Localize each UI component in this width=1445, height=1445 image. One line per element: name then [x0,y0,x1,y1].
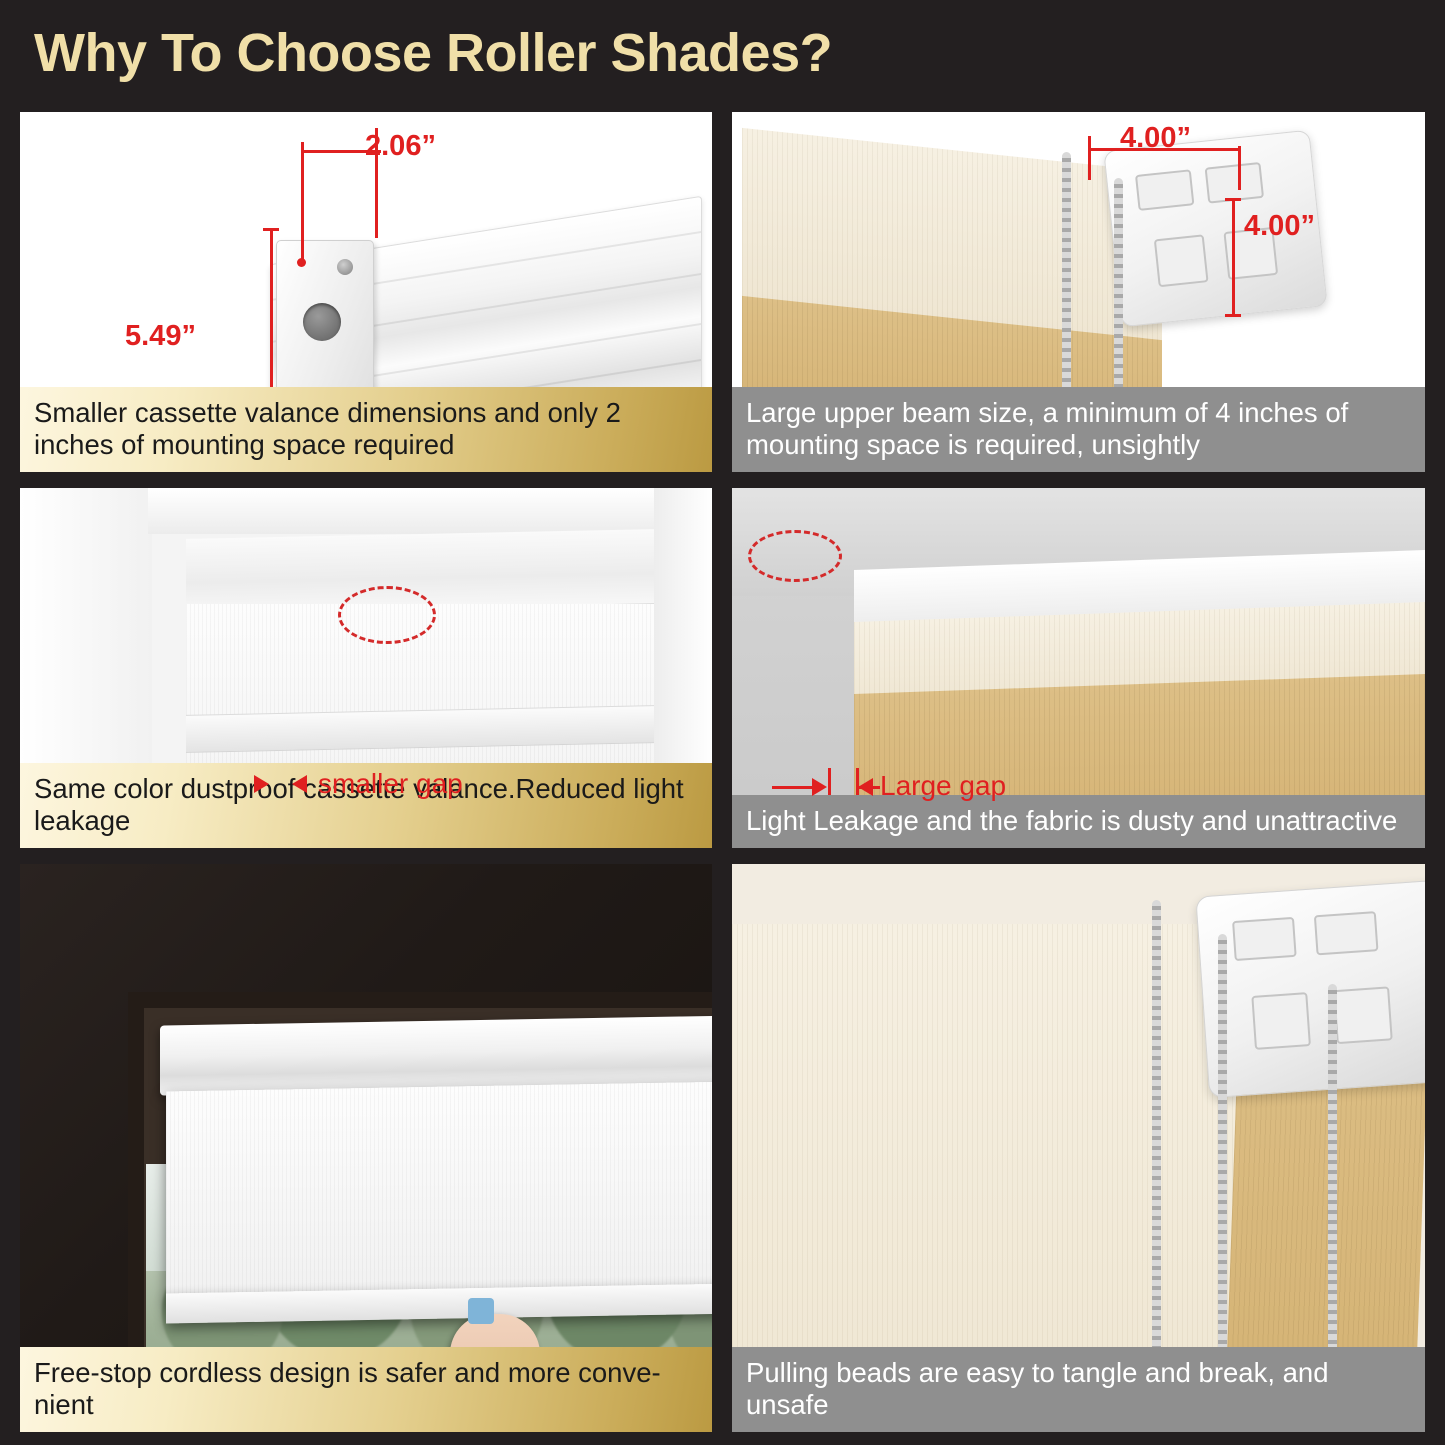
card-caption: Light Leakage and the fabric is dusty an… [732,795,1425,848]
dim-width-label: 2.06” [365,130,436,163]
dim-height-tick-top [1225,198,1241,201]
card-large-upper-beam: 4.00” 4.00” Large upper beam size, a min… [732,112,1425,472]
dim-height-line [1232,198,1235,316]
bead-chain-side [1328,984,1337,1384]
dim-leader-right [1238,146,1241,190]
infographic-page: Why To Choose Roller Shades? [0,0,1445,1445]
card-light-leakage: Large gap Light Leakage and the fabric i… [732,488,1425,848]
dim-height-label: 5.49” [125,320,196,353]
gap-arrow-right [254,775,269,793]
gap-arrow-right [812,778,827,796]
gap-label: Large gap [880,770,1006,802]
headrail-slot-2 [1314,911,1379,955]
headrail-slot-3 [1154,234,1209,287]
bracket-pin [337,259,353,275]
card-caption: Free-stop cordless design is safer and m… [20,1347,712,1432]
pull-tab [468,1298,494,1324]
window-molding-top [148,488,712,534]
highlight-ellipse [748,530,842,582]
gap-arrow-left [858,778,873,796]
dim-height-tick-bottom [1225,314,1241,317]
headrail-slot-3 [1251,992,1311,1050]
bead-chain-back [1218,934,1227,1382]
headrail-slot-1 [1135,169,1194,211]
gap-arrow-left [292,775,307,793]
dim-width-label: 4.00” [1120,122,1191,155]
card-pulling-beads: Pulling beads are easy to tangle and bre… [732,864,1425,1432]
highlight-ellipse [338,586,436,644]
dim-height-label: 4.00” [1244,210,1315,243]
comparison-grid: 2.06” 5.49” Smaller cassette valance dim… [20,112,1425,1432]
card-caption: Large upper beam size, a minimum of 4 in… [732,387,1425,472]
card-cordless-design: Free-stop cordless design is safer and m… [20,864,712,1432]
card-dustproof-valance: smaller gap Same color dustproof cassett… [20,488,712,848]
card-caption: Smaller cassette valance dimensions and … [20,387,712,472]
bead-chain-front [1152,900,1161,1380]
dim-leader-left [1088,136,1091,180]
shade-fabric [166,1081,712,1302]
card-caption: Pulling beads are easy to tangle and bre… [732,1347,1425,1432]
headrail-slot-4 [1333,986,1393,1044]
bracket-hole [303,303,341,341]
dim-dot-left [297,258,306,267]
page-title: Why To Choose Roller Shades? [34,22,832,84]
dim-leader-left [301,142,304,262]
dim-height-tick-top [263,228,279,231]
card-smaller-cassette: 2.06” 5.49” Smaller cassette valance dim… [20,112,712,472]
gap-label: smaller gap [318,768,463,800]
headrail-cassette [1195,880,1425,1098]
headrail-slot-1 [1232,917,1297,961]
